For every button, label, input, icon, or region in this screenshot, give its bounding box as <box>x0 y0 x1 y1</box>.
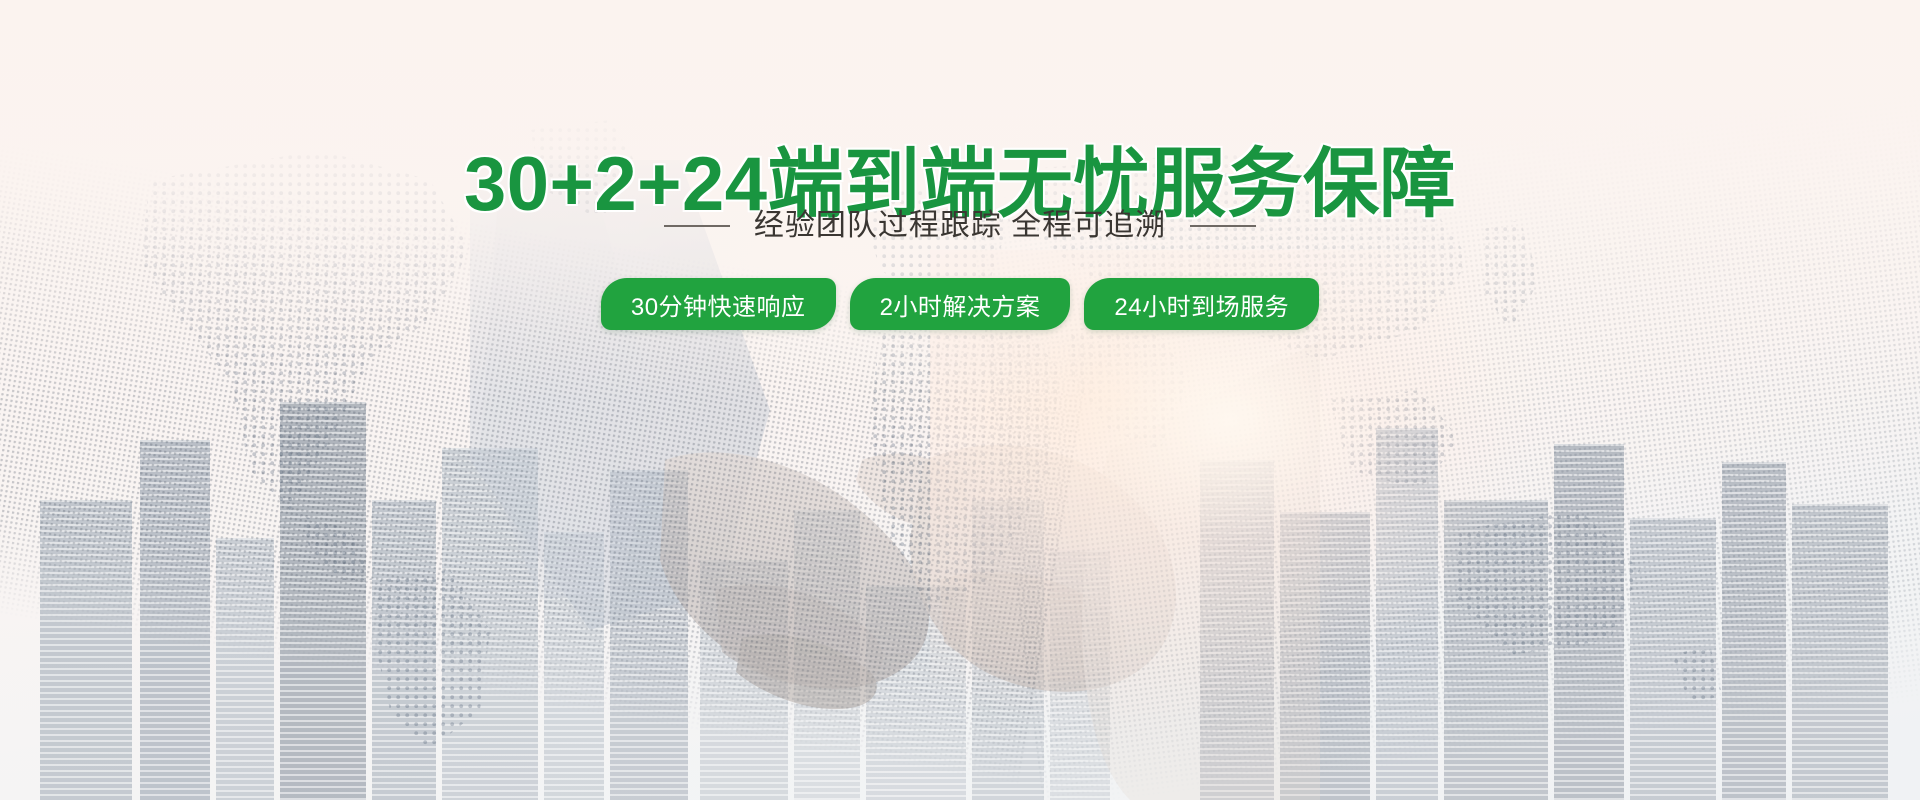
hero-banner: 30+2+24端到端无忧服务保障 经验团队过程跟踪 全程可追溯 30分钟快速响应… <box>0 0 1920 800</box>
badge-label: 2小时解决方案 <box>880 287 1041 322</box>
rule-right-icon <box>1190 225 1256 227</box>
badge-solution-time[interactable]: 2小时解决方案 <box>850 278 1071 330</box>
badge-label: 30分钟快速响应 <box>631 287 806 322</box>
badge-response-time[interactable]: 30分钟快速响应 <box>601 278 836 330</box>
rule-left-icon <box>664 225 730 227</box>
badge-row: 30分钟快速响应 2小时解决方案 24小时到场服务 <box>0 278 1920 330</box>
subtitle: 经验团队过程跟踪 全程可追溯 <box>754 208 1166 244</box>
banner-content: 30+2+24端到端无忧服务保障 经验团队过程跟踪 全程可追溯 30分钟快速响应… <box>0 0 1920 800</box>
subtitle-row: 经验团队过程跟踪 全程可追溯 <box>0 208 1920 244</box>
badge-onsite-service[interactable]: 24小时到场服务 <box>1084 278 1319 330</box>
badge-label: 24小时到场服务 <box>1114 287 1289 322</box>
